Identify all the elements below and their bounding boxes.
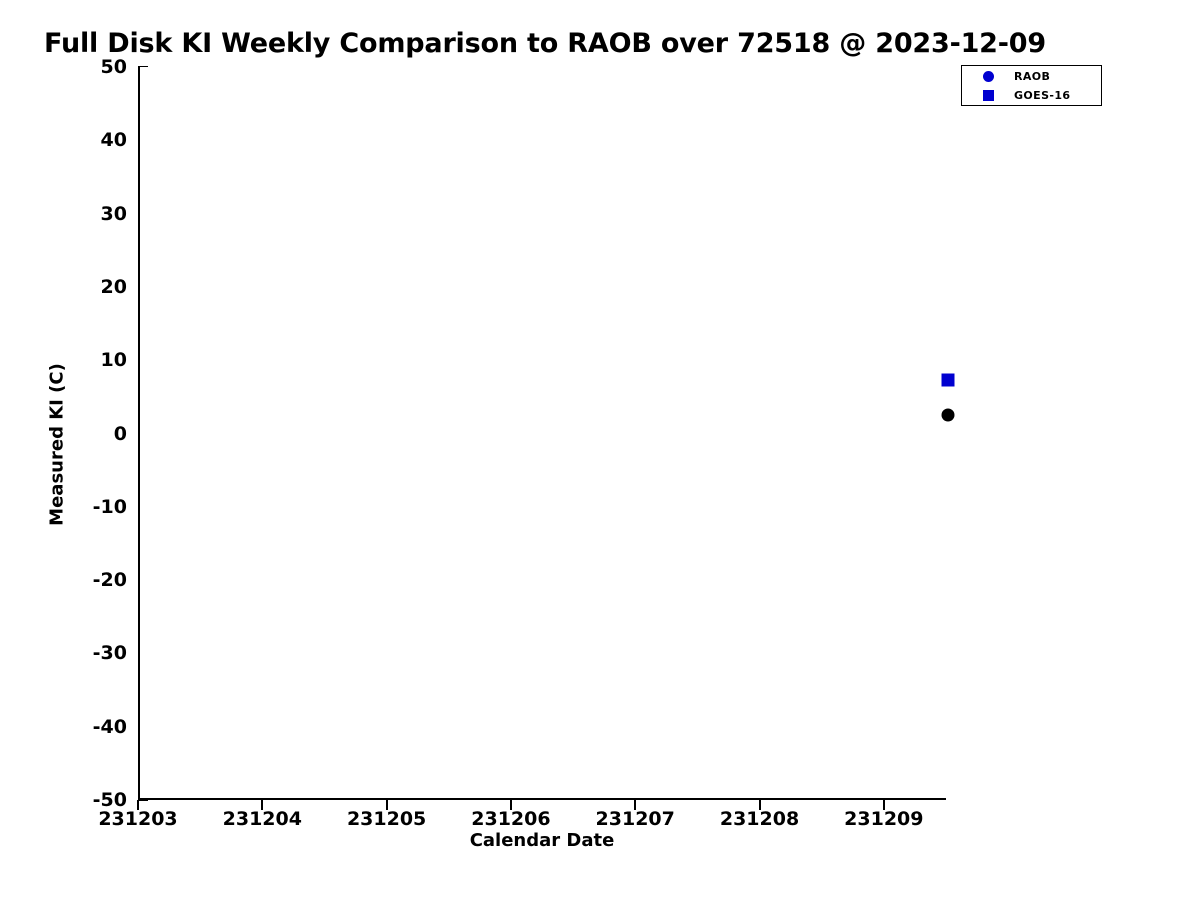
chart-legend: RAOBGOES-16 (961, 65, 1102, 106)
y-axis-tick-label: 0 (114, 423, 127, 445)
plot-area (138, 67, 946, 800)
legend-item-raob[interactable]: RAOB (962, 67, 1101, 86)
y-axis-tick-label: -30 (93, 642, 127, 664)
chart-figure: Full Disk KI Weekly Comparison to RAOB o… (0, 0, 1200, 900)
y-axis-title: Measured KI (C) (47, 325, 68, 565)
legend-item-label: GOES-16 (1014, 89, 1071, 102)
y-axis-tick-label: 20 (101, 276, 127, 298)
legend-item-label: RAOB (1014, 70, 1050, 83)
legend-item-goes-16[interactable]: GOES-16 (962, 86, 1101, 105)
y-axis-tick-label: 30 (101, 203, 127, 225)
x-axis-title: Calendar Date (138, 830, 946, 851)
y-axis-tick-label: 40 (101, 129, 127, 151)
y-axis-tick-label: -40 (93, 716, 127, 738)
y-axis-tick-label: -20 (93, 569, 127, 591)
legend-swatch-container (962, 71, 1014, 82)
data-points-layer (140, 67, 946, 798)
y-axis-tick-label: -10 (93, 496, 127, 518)
y-axis-tick-label: 10 (101, 349, 127, 371)
x-axis-tick-label: 231209 (804, 808, 964, 830)
chart-title: Full Disk KI Weekly Comparison to RAOB o… (0, 28, 1090, 59)
legend-circle-icon (983, 71, 994, 82)
y-axis-tick-label: 50 (101, 56, 127, 78)
legend-square-icon (983, 90, 994, 101)
data-point-raob (942, 409, 955, 422)
data-point-goes-16 (942, 373, 955, 386)
legend-swatch-container (962, 90, 1014, 101)
